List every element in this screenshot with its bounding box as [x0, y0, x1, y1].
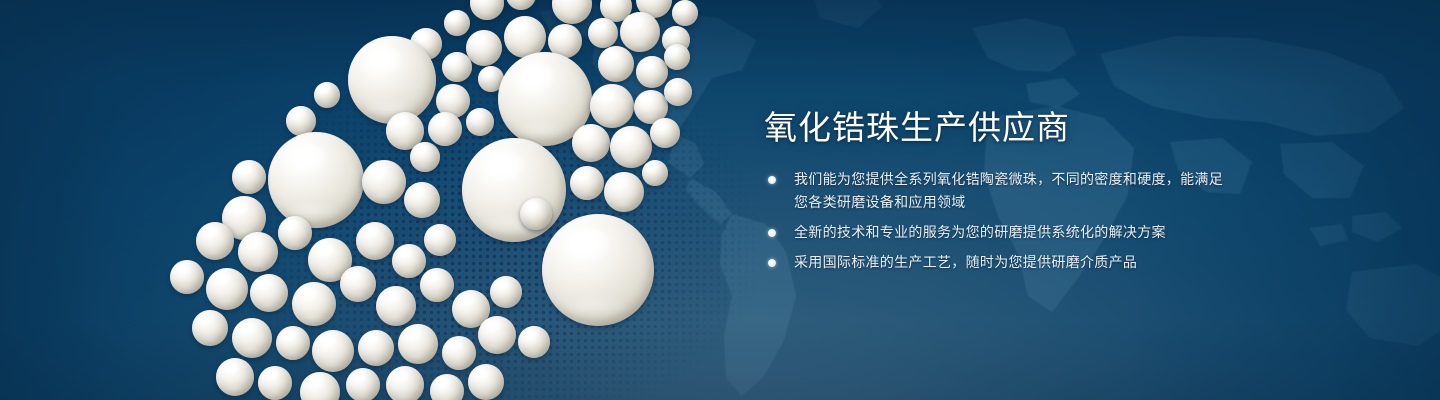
page-title: 氧化锆珠生产供应商	[764, 108, 1234, 148]
zirconia-bead-cluster	[0, 0, 760, 400]
list-item-label: 全新的技术和专业的服务为您的研磨提供系统化的解决方案	[794, 221, 1234, 244]
bullet-dot-icon	[768, 259, 776, 267]
list-item: 我们能为您提供全系列氧化锆陶瓷微珠，不同的密度和硬度，能满足您各类研磨设备和应用…	[764, 168, 1234, 214]
bullet-dot-icon	[768, 176, 776, 184]
bullet-dot-icon	[768, 229, 776, 237]
list-item: 全新的技术和专业的服务为您的研磨提供系统化的解决方案	[764, 221, 1234, 244]
list-item: 采用国际标准的生产工艺，随时为您提供研磨介质产品	[764, 251, 1234, 274]
feature-list: 我们能为您提供全系列氧化锆陶瓷微珠，不同的密度和硬度，能满足您各类研磨设备和应用…	[764, 168, 1234, 274]
banner-copy: 氧化锆珠生产供应商 我们能为您提供全系列氧化锆陶瓷微珠，不同的密度和硬度，能满足…	[764, 108, 1234, 274]
list-item-label: 采用国际标准的生产工艺，随时为您提供研磨介质产品	[794, 251, 1234, 274]
hero-banner: 氧化锆珠生产供应商 我们能为您提供全系列氧化锆陶瓷微珠，不同的密度和硬度，能满足…	[0, 0, 1440, 400]
list-item-label: 我们能为您提供全系列氧化锆陶瓷微珠，不同的密度和硬度，能满足您各类研磨设备和应用…	[794, 168, 1234, 214]
